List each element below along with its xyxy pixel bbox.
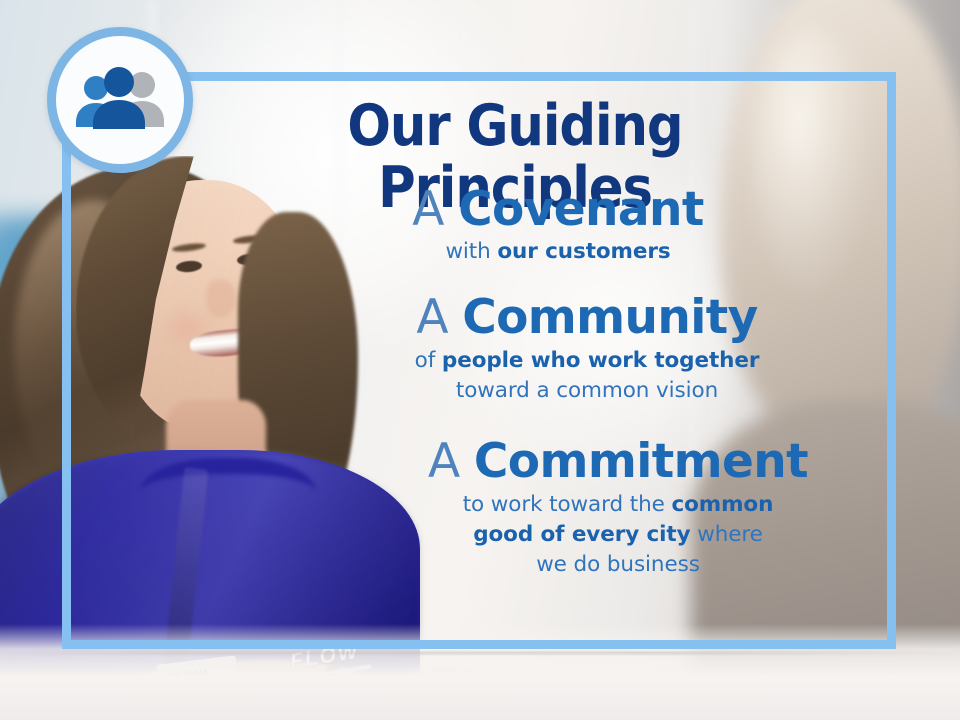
- principle-keyword: Commitment: [474, 434, 808, 489]
- principle-heading: A Community: [300, 290, 874, 346]
- principle-keyword: Covenant: [458, 182, 704, 237]
- principle-covenant: A Covenant with our customers: [300, 182, 880, 266]
- principle-subtext: to work toward the common good of every …: [356, 490, 880, 580]
- principle-article: A: [428, 434, 460, 489]
- principle-subtext-line: with our customers: [300, 238, 816, 266]
- guiding-principles-poster: FLOW FLOW Our Guiding Principles: [0, 0, 960, 720]
- principle-keyword: Community: [462, 290, 757, 345]
- desk-edge-line: [0, 652, 960, 654]
- people-group-icon: [70, 67, 170, 133]
- principle-subtext: of people who work together toward a com…: [300, 346, 874, 406]
- principle-subtext: with our customers: [300, 238, 816, 266]
- principle-commitment: A Commitment to work toward the common g…: [300, 434, 880, 580]
- principle-subtext-line: of people who work together: [300, 346, 874, 376]
- principle-heading: A Commitment: [356, 434, 880, 490]
- principle-subtext-line: we do business: [356, 550, 880, 580]
- principle-community: A Community of people who work together …: [300, 290, 880, 406]
- polo-collar: [140, 458, 316, 536]
- desk-foreground: [0, 624, 960, 720]
- guiding-principles-badge: [47, 27, 193, 173]
- principle-subtext-line: to work toward the common: [356, 490, 880, 520]
- principle-subtext-line: good of every city where: [356, 520, 880, 550]
- principle-article: A: [416, 290, 448, 345]
- principle-subtext-line: toward a common vision: [300, 376, 874, 406]
- principles-list: A Covenant with our customers A Communit…: [300, 182, 880, 584]
- principle-heading: A Covenant: [300, 182, 816, 238]
- principle-article: A: [412, 182, 444, 237]
